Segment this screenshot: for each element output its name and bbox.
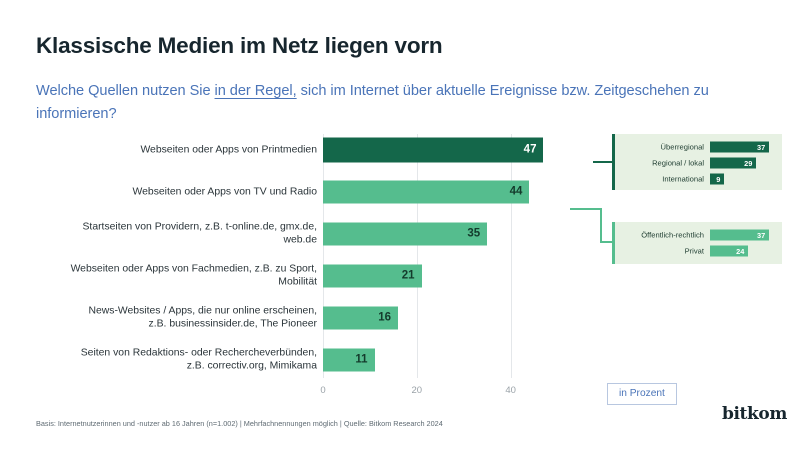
grid-line xyxy=(511,134,512,378)
callout-row: Privat24 xyxy=(612,244,782,258)
connector-tvradio-h1 xyxy=(570,208,602,210)
callout-bar: 37 xyxy=(710,230,769,241)
callout-row: Regional / lokal29 xyxy=(612,156,782,170)
chart-row: News-Websites / Apps, die nur online ers… xyxy=(36,302,581,333)
bar-value-label: 35 xyxy=(467,228,480,240)
bar-value-label: 21 xyxy=(402,270,415,282)
bar: 11 xyxy=(323,348,375,371)
x-axis-tick-label: 0 xyxy=(320,385,325,396)
infographic-page: Klassische Medien im Netz liegen vorn We… xyxy=(0,0,800,450)
category-label: News-Websites / Apps, die nur online ers… xyxy=(36,304,317,331)
callout-bar-value: 37 xyxy=(757,143,765,152)
callout-bar-value: 29 xyxy=(744,159,752,168)
callout-bar: 29 xyxy=(710,158,756,169)
bar-value-label: 44 xyxy=(510,186,523,198)
page-title: Klassische Medien im Netz liegen vorn xyxy=(36,33,442,59)
chart-row: Webseiten oder Apps von Fachmedien, z.B.… xyxy=(36,260,581,291)
chart-row: Startseiten von Providern, z.B. t-online… xyxy=(36,218,581,249)
callout-bar-value: 9 xyxy=(716,175,720,184)
callout-bar: 9 xyxy=(710,174,724,185)
bar: 47 xyxy=(323,137,543,162)
category-label: Webseiten oder Apps von Printmedien xyxy=(36,143,317,157)
unit-badge: in Prozent xyxy=(607,383,677,405)
bar-value-label: 47 xyxy=(524,144,537,156)
callout-category-label: Überregional xyxy=(612,143,704,152)
connector-print xyxy=(593,161,612,163)
chart-row: Webseiten oder Apps von Printmedien47 xyxy=(36,134,581,165)
bitkom-logo: bitkom xyxy=(722,404,787,424)
breakdown-callout-print: Überregional37Regional / lokal29Internat… xyxy=(612,134,782,190)
bar-value-label: 16 xyxy=(378,312,391,324)
callout-row: Überregional37 xyxy=(612,140,782,154)
chart-row: Seiten von Redaktions- oder Recherchever… xyxy=(36,344,581,375)
subtitle-underlined-phrase: in der Regel, xyxy=(215,83,297,99)
connector-tvradio-v xyxy=(600,208,602,243)
category-label: Webseiten oder Apps von TV und Radio xyxy=(36,185,317,199)
grid-line xyxy=(323,134,324,378)
bar: 35 xyxy=(323,222,487,245)
callout-category-label: Privat xyxy=(612,247,704,256)
chart-row: Webseiten oder Apps von TV und Radio44 xyxy=(36,176,581,207)
bar: 21 xyxy=(323,264,422,287)
grid-line xyxy=(417,134,418,378)
category-label: Seiten von Redaktions- oder Recherchever… xyxy=(36,346,317,373)
bar: 16 xyxy=(323,306,398,329)
callout-category-label: Regional / lokal xyxy=(612,159,704,168)
x-axis-tick-label: 40 xyxy=(505,385,516,396)
callout-row: Öffentlich-rechtlich37 xyxy=(612,228,782,242)
callout-bar: 37 xyxy=(710,142,769,153)
category-label: Startseiten von Providern, z.B. t-online… xyxy=(36,220,317,247)
callout-bar-value: 24 xyxy=(736,247,744,256)
page-subtitle: Welche Quellen nutzen Sie in der Regel, … xyxy=(36,80,736,126)
bar-chart: 02040Webseiten oder Apps von Printmedien… xyxy=(36,134,581,396)
x-axis-tick-label: 20 xyxy=(412,385,423,396)
callout-bar: 24 xyxy=(710,246,748,257)
category-label: Webseiten oder Apps von Fachmedien, z.B.… xyxy=(36,262,317,289)
breakdown-callout-tvradio: Öffentlich-rechtlich37Privat24 xyxy=(612,222,782,264)
subtitle-part-1: Welche Quellen nutzen Sie xyxy=(36,83,215,99)
callout-row: International9 xyxy=(612,172,782,186)
callout-category-label: International xyxy=(612,175,704,184)
callout-category-label: Öffentlich-rechtlich xyxy=(612,231,704,240)
bar-value-label: 11 xyxy=(355,354,367,366)
bar: 44 xyxy=(323,180,529,203)
callout-bar-value: 37 xyxy=(757,231,765,240)
source-note: Basis: Internetnutzerinnen und -nutzer a… xyxy=(36,419,443,428)
connector-tvradio-h2 xyxy=(600,241,612,243)
